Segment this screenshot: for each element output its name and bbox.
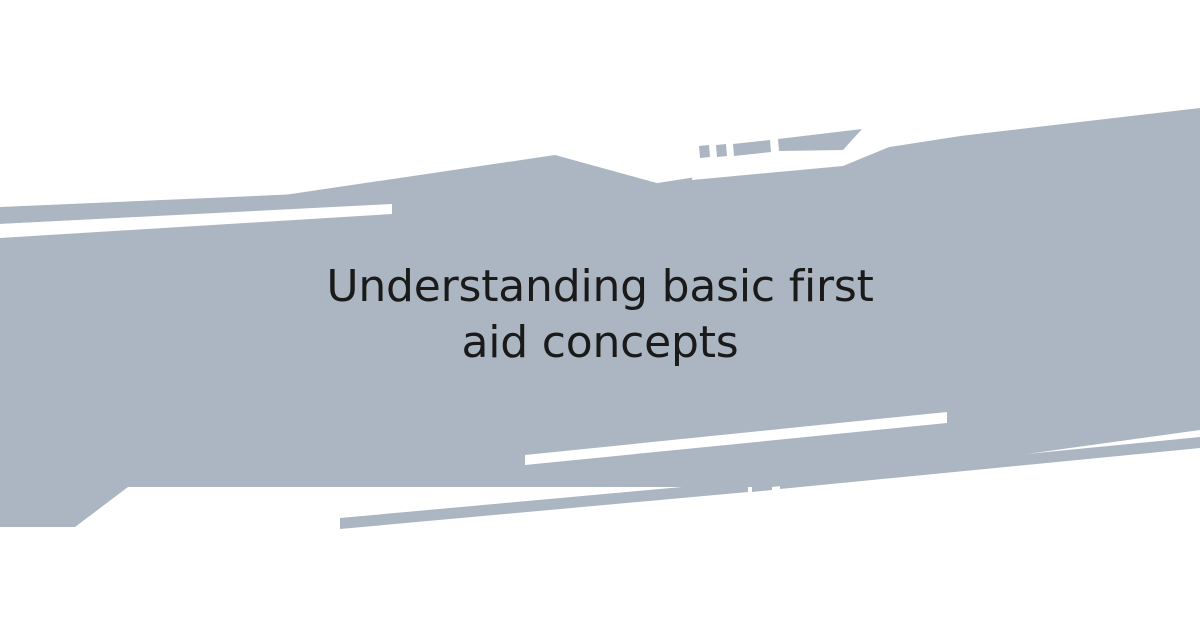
upper-right-dash-small-2	[716, 144, 727, 157]
banner-card: Understanding basic first aid concepts	[0, 0, 1200, 630]
upper-right-dash-small-1	[699, 145, 710, 158]
banner-background-artwork	[0, 0, 1200, 630]
lower-right-short-dash	[752, 479, 772, 492]
lower-left-grey-bar	[340, 481, 748, 529]
